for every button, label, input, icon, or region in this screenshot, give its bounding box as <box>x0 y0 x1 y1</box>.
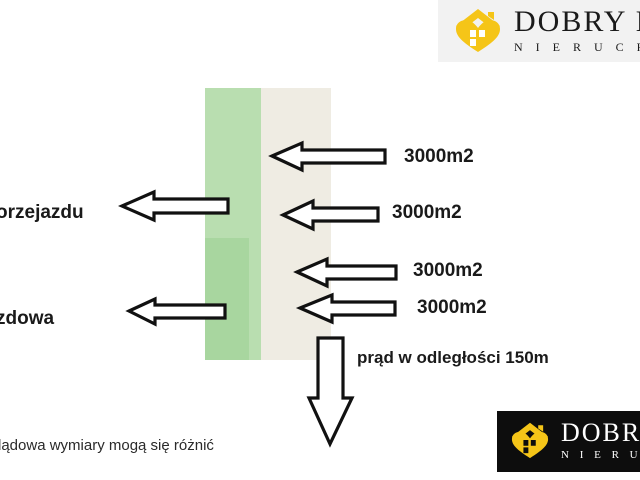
logo-bottom-right: DOBR N I E R U C <box>497 411 640 472</box>
left-label-przejazdu: orzejazdu <box>0 202 84 224</box>
logo-top-name: DOBRY D <box>514 7 640 37</box>
house-heart-icon <box>507 419 553 461</box>
area-label-parcel-2: 3000m2 <box>392 202 462 224</box>
logo-bottom-subtitle: N I E R U C <box>561 450 640 461</box>
power-distance-label: prąd w odległości 150m <box>357 348 549 368</box>
map-beige-area <box>259 88 331 360</box>
area-label-parcel-1: 3000m2 <box>404 146 474 168</box>
house-heart-icon <box>450 6 506 54</box>
parcel-map <box>205 88 331 360</box>
logo-top-subtitle: N I E R U C H O M <box>514 41 640 53</box>
area-label-parcel-4: 3000m2 <box>417 297 487 319</box>
logo-bottom-name: DOBR <box>561 420 640 446</box>
area-label-parcel-3: 3000m2 <box>413 260 483 282</box>
map-green-field-lower <box>205 238 249 360</box>
logo-top-right: DOBRY D N I E R U C H O M <box>438 0 640 62</box>
disclaimer-footnote: lądowa wymiary mogą się różnić <box>0 437 214 454</box>
left-label-zjazdowa: zdowa <box>0 308 54 330</box>
